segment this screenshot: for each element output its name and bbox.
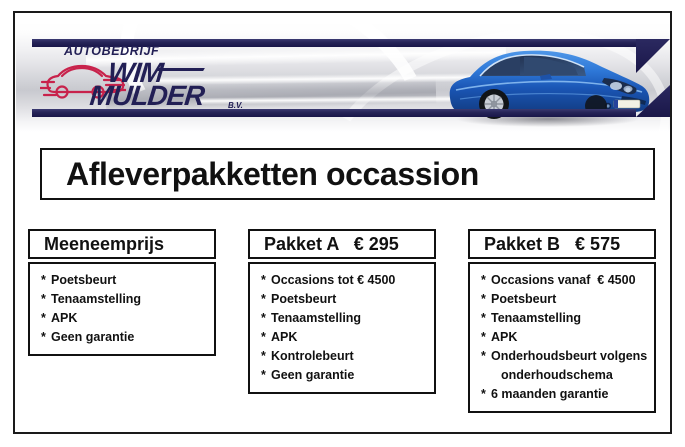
list-item-label: Tenaamstelling <box>51 290 141 309</box>
list-item: * Poetsbeurt <box>470 290 654 309</box>
list-item-label: Poetsbeurt <box>51 271 116 290</box>
package-column-pakket-b: Pakket B € 575 * Occasions vanaf € 4500 … <box>468 229 656 413</box>
list-item-label: 6 maanden garantie <box>491 385 608 404</box>
header-banner: AUTOBEDRIJF WIM MULDER B.V. <box>16 22 670 132</box>
page-title: Afleverpakketten occassion <box>66 156 479 193</box>
list-item-label: Poetsbeurt <box>271 290 336 309</box>
list-item: * Tenaamstelling <box>470 309 654 328</box>
list-item: * APK <box>470 328 654 347</box>
column-header-title: Pakket B € 575 <box>484 234 620 255</box>
list-item: * Occasions vanaf € 4500 <box>470 271 654 290</box>
bullet-star-icon: * <box>481 290 491 309</box>
bullet-star-icon: * <box>481 309 491 328</box>
bullet-star-icon: * <box>261 309 271 328</box>
bullet-star-icon: * <box>41 309 51 328</box>
logo-autobedrijf-text: AUTOBEDRIJF <box>64 44 159 58</box>
list-item-label: Occasions vanaf € 4500 <box>491 271 636 290</box>
bullet-star-icon: * <box>481 347 491 366</box>
column-items-box: * Poetsbeurt * Tenaamstelling * APK * Ge… <box>28 262 216 356</box>
list-item-label: APK <box>51 309 77 328</box>
list-item: * 6 maanden garantie <box>470 385 654 404</box>
list-item: * Geen garantie <box>250 366 434 385</box>
list-item-label: onderhoudschema <box>501 366 613 385</box>
list-item-label: APK <box>271 328 297 347</box>
bullet-star-icon: * <box>41 271 51 290</box>
page-title-box: Afleverpakketten occassion <box>40 148 655 200</box>
list-item-continuation: onderhoudschema <box>470 366 654 385</box>
logo-swoosh-1 <box>157 68 205 71</box>
bullet-star-icon: * <box>481 385 491 404</box>
column-header-box: Pakket B € 575 <box>468 229 656 259</box>
list-item: * Kontrolebeurt <box>250 347 434 366</box>
column-header-box: Pakket A € 295 <box>248 229 436 259</box>
bullet-star-icon: * <box>261 271 271 290</box>
list-item-label: Onderhoudsbeurt volgens <box>491 347 647 366</box>
list-item: * APK <box>250 328 434 347</box>
bullet-star-icon: * <box>261 290 271 309</box>
package-column-pakket-a: Pakket A € 295 * Occasions tot € 4500 * … <box>248 229 436 394</box>
flyer-page: AUTOBEDRIJF WIM MULDER B.V. Afleverpakke… <box>0 0 685 447</box>
bullet-star-icon: * <box>481 271 491 290</box>
list-item: * APK <box>30 309 214 328</box>
bullet-star-icon: * <box>261 366 271 385</box>
bullet-star-icon: * <box>261 328 271 347</box>
column-header-title: Pakket A € 295 <box>264 234 399 255</box>
list-item: * Geen garantie <box>30 328 214 347</box>
company-logo: AUTOBEDRIJF WIM MULDER B.V. <box>40 44 270 110</box>
bullet-star-icon: * <box>261 347 271 366</box>
list-item-label: Occasions tot € 4500 <box>271 271 395 290</box>
list-item-label: Geen garantie <box>271 366 354 385</box>
list-item: * Poetsbeurt <box>30 271 214 290</box>
list-item-label: Tenaamstelling <box>271 309 361 328</box>
list-item: * Onderhoudsbeurt volgens <box>470 347 654 366</box>
package-column-meeneemprijs: Meeneemprijs * Poetsbeurt * Tenaamstelli… <box>28 229 216 356</box>
list-item: * Occasions tot € 4500 <box>250 271 434 290</box>
list-item: * Tenaamstelling <box>30 290 214 309</box>
bullet-star-icon: * <box>481 328 491 347</box>
logo-bv-text: B.V. <box>228 101 243 110</box>
list-item: * Tenaamstelling <box>250 309 434 328</box>
column-header-box: Meeneemprijs <box>28 229 216 259</box>
list-item-label: APK <box>491 328 517 347</box>
column-header-title: Meeneemprijs <box>44 234 164 255</box>
column-items-box: * Occasions tot € 4500 * Poetsbeurt * Te… <box>248 262 436 394</box>
logo-mulder-text: MULDER <box>88 80 205 112</box>
list-item-label: Geen garantie <box>51 328 134 347</box>
column-items-box: * Occasions vanaf € 4500 * Poetsbeurt * … <box>468 262 656 413</box>
bullet-star-icon: * <box>41 328 51 347</box>
list-item-label: Kontrolebeurt <box>271 347 354 366</box>
bullet-star-icon: * <box>41 290 51 309</box>
list-item-label: Tenaamstelling <box>491 309 581 328</box>
list-item: * Poetsbeurt <box>250 290 434 309</box>
list-item-label: Poetsbeurt <box>491 290 556 309</box>
